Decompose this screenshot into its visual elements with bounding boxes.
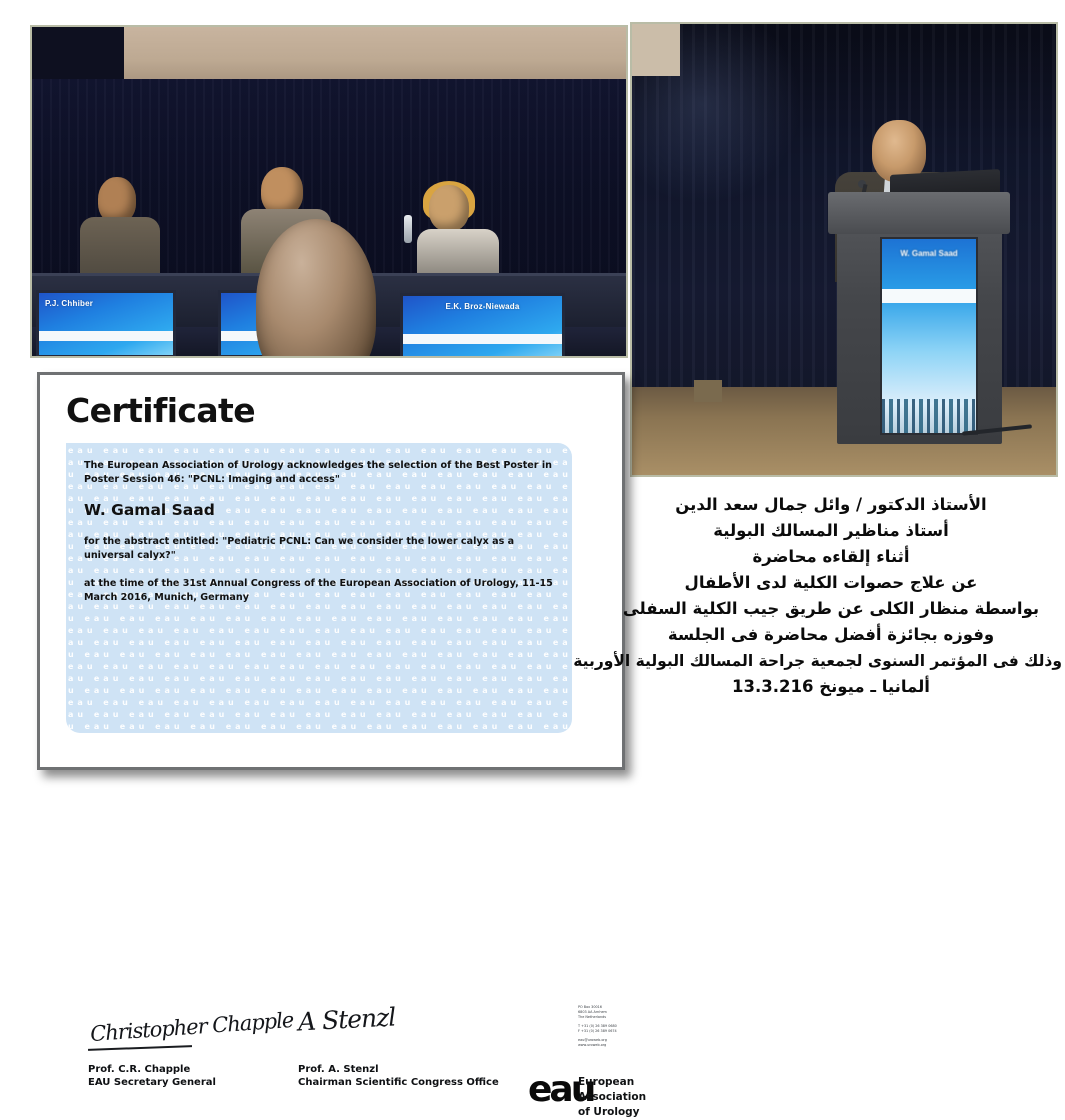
signatory-name-stenzl: Prof. A. Stenzl (298, 1063, 499, 1076)
arabic-line-5: بواسطة منظار الكلى عن طريق جيب الكلية ال… (600, 596, 1062, 622)
arabic-line-8: ألمانيا ـ ميونخ 13.3.216 (600, 674, 1062, 700)
arabic-line-7: وذلك فى المؤتمر السنوى لجمعية جراحة المس… (600, 648, 1062, 674)
arabic-line-1: الأستاذ الدكتور / وائل جمال سعد الدين (600, 492, 1062, 518)
signature-mark-stenzl: A Stenzl (297, 1002, 396, 1036)
certificate-paragraph-1: The European Association of Urology ackn… (84, 459, 554, 487)
nameplate-band-left (39, 331, 173, 341)
lectern-desk-top (828, 192, 1010, 234)
nameplate-label-left: P.J. Chhiber (45, 299, 169, 308)
certificate-paragraph-2: for the abstract entitled: "Pediatric PC… (84, 535, 554, 563)
nameplate-label-right: E.K. Broz-Niewada (403, 302, 562, 311)
eau-org-line-3: of Urology (578, 1105, 646, 1120)
eau-org-line-1: European (578, 1075, 646, 1090)
address-line-3: The Netherlands (578, 1015, 606, 1019)
arabic-caption-block: الأستاذ الدكتور / وائل جمال سعد الدين أس… (600, 492, 1062, 700)
panellist-center-head (261, 167, 303, 215)
lectern-skyline-graphic (882, 399, 976, 433)
certificate-blue-panel: eau eau eau eau eau eau eau eau eau eau … (66, 443, 572, 733)
signatory-role-chapple: EAU Secretary General (88, 1076, 216, 1089)
photo-speaker-lectern: W. Gamal Saad (630, 22, 1058, 477)
projection-screen-edge (632, 24, 680, 76)
signatory-block-chapple: Prof. C.R. Chapple EAU Secretary General (88, 1063, 216, 1089)
certificate-spacer (84, 563, 554, 577)
panellist-right-head (429, 185, 469, 231)
certificate-title: Certificate (66, 391, 255, 430)
certificate-awardee-name: W. Gamal Saad (84, 501, 554, 519)
signatory-role-stenzl: Chairman Scientific Congress Office (298, 1076, 499, 1089)
arabic-line-6: وفوزه بجائزة أفضل محاضرة فى الجلسة (600, 622, 1062, 648)
photo-panel-session: P.J. Chhiber E.K. Broz-Niewada (30, 25, 628, 358)
certificate-text-block: The European Association of Urology ackn… (66, 443, 572, 733)
address-line-5: F +31 (0) 26 389 0674 (578, 1029, 617, 1033)
water-bottle (404, 215, 412, 243)
certificate-inner: Certificate eau eau eau eau eau eau eau … (40, 375, 622, 767)
signatory-name-chapple: Prof. C.R. Chapple (88, 1063, 216, 1076)
panel-session-scene: P.J. Chhiber E.K. Broz-Niewada (32, 27, 626, 356)
arabic-line-4: عن علاج حصوات الكلية لدى الأطفال (600, 570, 1062, 596)
eau-org-line-2: Association (578, 1090, 646, 1105)
lectern-nameplate-band (882, 289, 976, 303)
certificate-document: Certificate eau eau eau eau eau eau eau … (37, 372, 625, 770)
address-line-1: PO Box 30016 (578, 1005, 602, 1009)
lectern-nameplate-label: W. Gamal Saad (882, 249, 976, 258)
stage-floor-box (694, 380, 722, 402)
address-line-6: eau@uroweb.org (578, 1038, 607, 1042)
certificate-paragraph-3: at the time of the 31st Annual Congress … (84, 577, 554, 605)
page-canvas: P.J. Chhiber E.K. Broz-Niewada (0, 0, 1065, 799)
address-line-2: 6803 AA Arnhem (578, 1010, 607, 1014)
address-line-4: T +31 (0) 26 389 0680 (578, 1024, 617, 1028)
signatory-block-stenzl: Prof. A. Stenzl Chairman Scientific Cong… (298, 1063, 499, 1089)
eau-address-block: PO Box 30016 6803 AA Arnhem The Netherla… (578, 1005, 634, 1052)
nameplate-band-right (403, 334, 562, 344)
stage-dark-left (32, 27, 126, 87)
arabic-line-2: أستاذ مناظير المسالك البولية (600, 518, 1062, 544)
signature-underline-chapple (88, 1045, 192, 1050)
projection-screen (124, 27, 626, 83)
eau-organisation-name: European Association of Urology (578, 1075, 646, 1120)
lectern-nameplate-screen: W. Gamal Saad (880, 237, 978, 435)
arabic-line-3: أثناء إلقاءه محاضرة (600, 544, 1062, 570)
address-line-7: www.uroweb.org (578, 1043, 606, 1047)
nameplate-screen-right: E.K. Broz-Niewada (400, 293, 565, 356)
nameplate-screen-left: P.J. Chhiber (36, 290, 176, 356)
signature-mark-chapple: Christopher Chapple (89, 1008, 294, 1046)
